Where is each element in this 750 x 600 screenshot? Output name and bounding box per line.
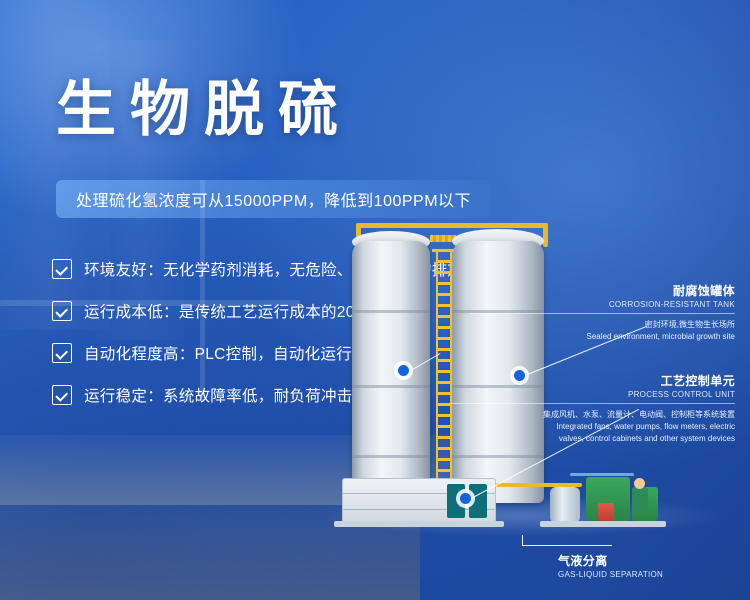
separator-drum xyxy=(550,487,580,523)
callout-title-en: CORROSION-RESISTANT TANK xyxy=(470,300,735,309)
ladder-rail-top xyxy=(432,249,454,252)
cabinet-base xyxy=(334,521,504,527)
callout-gas-liquid-separation: 气液分离 GAS-LIQUID SEPARATION xyxy=(558,552,738,579)
callout-divider xyxy=(470,313,735,314)
tank-a-band-2 xyxy=(352,385,430,388)
worker-figure xyxy=(632,487,648,513)
pipe-top-horizontal xyxy=(356,223,548,228)
callout-title: 工艺控制单元 xyxy=(450,372,735,389)
callout-divider xyxy=(450,403,735,404)
callout-body-cn: 集成风机、水泵、流量计、电动阀、控制柜等系统装置 xyxy=(450,409,735,421)
check-box-icon xyxy=(52,259,72,279)
hotspot-control-unit[interactable] xyxy=(460,493,471,504)
check-box-icon xyxy=(52,301,72,321)
control-cabinet xyxy=(342,478,496,525)
callout-title-en: GAS-LIQUID SEPARATION xyxy=(558,570,738,579)
tank-b-band-3 xyxy=(452,455,544,458)
callout-body-en-2: valves, control cabinets and other syste… xyxy=(450,433,735,445)
leader-elbow-separation xyxy=(522,535,523,546)
cluster-base xyxy=(540,521,666,527)
callout-title: 耐腐蚀罐体 xyxy=(470,282,735,299)
callout-title-en: PROCESS CONTROL UNIT xyxy=(450,390,735,399)
callout-body-en: Sealed environment, microbial growth sit… xyxy=(470,331,735,343)
callout-corrosion-resistant-tank: 耐腐蚀罐体 CORROSION-RESISTANT TANK 密封环境,微生物生… xyxy=(470,282,735,343)
leader-line-separation xyxy=(522,545,612,546)
tank-a-band-3 xyxy=(352,455,430,458)
callout-process-control-unit: 工艺控制单元 PROCESS CONTROL UNIT 集成风机、水泵、流量计、… xyxy=(450,372,735,445)
pipe-blue-top xyxy=(570,473,634,476)
ladder xyxy=(436,249,452,481)
page-subtitle: 处理硫化氢浓度可从15000PPM，降低到100PPM以下 xyxy=(56,180,491,218)
page-title: 生物脱硫 xyxy=(56,80,352,140)
poster-root: 生物脱硫 处理硫化氢浓度可从15000PPM，降低到100PPM以下 环境友好：… xyxy=(0,0,750,600)
cabinet-door-2 xyxy=(469,484,487,518)
tank-a xyxy=(352,241,430,503)
callout-body-en-1: Integrated fans, water pumps, flow meter… xyxy=(450,421,735,433)
callout-title: 气液分离 xyxy=(558,552,738,569)
check-box-icon xyxy=(52,385,72,405)
worker-head xyxy=(634,478,645,489)
pipe-top-right-drop xyxy=(543,223,548,247)
check-box-icon xyxy=(52,343,72,363)
tank-a-band-1 xyxy=(352,310,430,313)
red-equipment xyxy=(598,503,614,521)
callout-body-cn: 密封环境,微生物生长场所 xyxy=(470,319,735,331)
hotspot-tank[interactable] xyxy=(398,365,409,376)
